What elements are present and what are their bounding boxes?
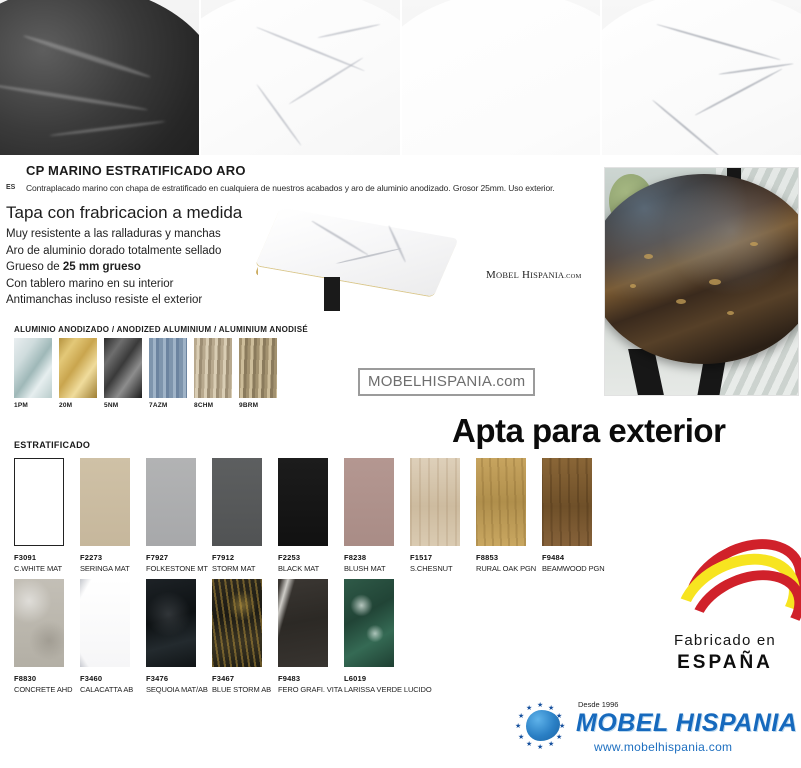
- feature-thickness: Grueso de 25 mm grueso: [6, 259, 266, 276]
- aluminium-swatch-color: [239, 338, 277, 398]
- photo-black-marble-gold-ring: [0, 0, 199, 155]
- aluminium-swatch-color: [14, 338, 52, 398]
- aluminium-swatch-item[interactable]: 7AZM: [149, 338, 187, 409]
- brand-watermark-text: MOBELHISPANIA.com: [368, 373, 525, 390]
- eu-star-icon: ★: [537, 745, 543, 751]
- laminate-swatch-code: F9484: [542, 553, 608, 562]
- feature-item: Antimanchas incluso resiste el exterior: [6, 292, 266, 309]
- wm-com: .COM: [564, 273, 581, 280]
- laminate-swatch-color: [476, 458, 526, 546]
- aluminium-swatch-code: 9BRM: [239, 402, 277, 409]
- laminate-swatch-color: [212, 458, 262, 546]
- thickness-label: Grueso de: [6, 261, 60, 273]
- render-watermark: MOBEL HISPANIA.COM: [486, 269, 581, 281]
- laminate-swatch-code: F8238: [344, 553, 410, 562]
- laminate-swatch-item[interactable]: F9484BEAMWOOD PGN: [542, 458, 608, 573]
- laminate-swatch-code: F2273: [80, 553, 146, 562]
- laminate-swatch-item[interactable]: L6019LARISSA VERDE LUCIDO: [344, 579, 410, 694]
- laminate-swatch-color: [278, 458, 328, 546]
- eu-star-icon: ★: [537, 703, 543, 709]
- aluminium-swatch-color: [149, 338, 187, 398]
- white-marble-surface: [602, 0, 801, 155]
- aluminium-swatch-code: 20M: [59, 402, 97, 409]
- laminate-swatch-item[interactable]: F8238BLUSH MAT: [344, 458, 410, 573]
- feature-item: Con tablero marino en su interior: [6, 276, 266, 293]
- laminate-swatch-color: [212, 579, 262, 667]
- white-surface: [402, 0, 601, 155]
- laminate-swatch-color: [80, 458, 130, 546]
- laminate-swatch-name: SERINGA MAT: [80, 564, 146, 573]
- laminate-swatch-code: F2253: [278, 553, 344, 562]
- laminate-swatch-code: F3467: [212, 674, 278, 683]
- photo-white-marble-gold-ring: [201, 0, 400, 155]
- brand-watermark: MOBELHISPANIA.com: [358, 368, 535, 396]
- eu-star-icon: ★: [556, 735, 562, 741]
- aluminium-swatch-item[interactable]: 5NM: [104, 338, 142, 409]
- aluminium-swatch-item[interactable]: 9BRM: [239, 338, 277, 409]
- spanish-flag-icon: [665, 540, 790, 632]
- laminate-section-heading: ESTRATIFICADO: [14, 440, 90, 450]
- square-table-top: [268, 221, 458, 299]
- laminate-swatch-item[interactable]: F7912STORM MAT: [212, 458, 278, 573]
- laminate-swatch-code: F1517: [410, 553, 476, 562]
- wm-ispania: ISPANIA: [530, 270, 564, 280]
- photo-dark-marble-round-table: [604, 167, 799, 396]
- map-shape: [526, 710, 560, 741]
- laminate-swatch-color: [146, 579, 196, 667]
- aluminium-swatch-row: 1PM 20M 5NM 7AZM 8CHM 9BRM: [14, 338, 277, 409]
- laminate-swatch-code: F3091: [14, 553, 80, 562]
- laminate-swatch-code: F8853: [476, 553, 542, 562]
- laminate-swatch-code: F3476: [146, 674, 212, 683]
- laminate-swatch-name: CALACATTA AB: [80, 685, 146, 694]
- laminate-swatch-color: [344, 458, 394, 546]
- laminate-swatch-code: F9483: [278, 674, 344, 683]
- eu-star-icon: ★: [559, 724, 565, 730]
- made-in-label: Fabricado en: [655, 632, 795, 649]
- laminate-swatch-color: [14, 579, 64, 667]
- laminate-swatch-grid: F3091C.WHITE MATF2273SERINGA MATF7927FOL…: [14, 458, 608, 694]
- aluminium-swatch-color: [194, 338, 232, 398]
- wm-m: M: [486, 269, 496, 281]
- dark-marble-surface: [604, 174, 799, 364]
- aluminium-swatch-color: [59, 338, 97, 398]
- laminate-swatch-name: BLACK MAT: [278, 564, 344, 573]
- table-column: [324, 277, 340, 311]
- laminate-swatch-name: SEQUOIA MAT/AB: [146, 685, 212, 694]
- laminate-swatch-name: S.CHESNUT: [410, 564, 476, 573]
- photo-white-silver-ring: [402, 0, 601, 155]
- aluminium-swatch-item[interactable]: 1PM: [14, 338, 52, 409]
- photo-white-marble-silver-ring: [602, 0, 801, 155]
- laminate-swatch-name: BEAMWOOD PGN: [542, 564, 608, 573]
- aluminium-swatch-color: [104, 338, 142, 398]
- laminate-swatch-color: [410, 458, 460, 546]
- feature-list: Muy resistente a las ralladuras y mancha…: [6, 226, 266, 309]
- company-logo[interactable]: ★★★★★★★★★★★★ Desde 1996 MOBEL HISPANIA w…: [516, 700, 796, 760]
- product-spec-sheet: CP MARINO ESTRATIFICADO ARO ES Contrapla…: [0, 0, 801, 768]
- wm-obel: OBEL: [496, 270, 519, 280]
- laminate-swatch-color: [80, 579, 130, 667]
- laminate-swatch-name: STORM MAT: [212, 564, 278, 573]
- wm-h: H: [522, 269, 530, 281]
- aluminium-section-heading: ALUMINIO ANODIZADO / ANODIZED ALUMINIUM …: [14, 325, 308, 334]
- laminate-swatch-color: [146, 458, 196, 546]
- marble-laminate-face: [255, 208, 458, 297]
- laminate-swatch-item[interactable]: F3460CALACATTA AB: [80, 579, 146, 694]
- laminate-swatch-code: L6019: [344, 674, 410, 683]
- laminate-swatch-item[interactable]: F3467BLUE STORM AB: [212, 579, 278, 694]
- laminate-swatch-name: BLUSH MAT: [344, 564, 410, 573]
- eu-star-icon: ★: [518, 735, 524, 741]
- photo-banner: [0, 0, 801, 155]
- laminate-swatch-name: FOLKESTONE MT: [146, 564, 212, 573]
- eu-star-icon: ★: [556, 714, 562, 720]
- laminate-swatch-name: FERO GRAFI. VITA: [278, 685, 344, 694]
- aluminium-swatch-code: 1PM: [14, 402, 52, 409]
- aluminium-swatch-item[interactable]: 20M: [59, 338, 97, 409]
- product-render: MOBEL HISPANIA.COM: [258, 207, 598, 312]
- country-label: ESPAÑA: [655, 652, 795, 674]
- laminate-swatch-item[interactable]: F2273SERINGA MAT: [80, 458, 146, 573]
- laminate-swatch-name: BLUE STORM AB: [212, 685, 278, 694]
- laminate-swatch-item[interactable]: F8853RURAL OAK PGN: [476, 458, 542, 573]
- feature-item: Muy resistente a las ralladuras y mancha…: [6, 226, 266, 243]
- laminate-swatch-name: RURAL OAK PGN: [476, 564, 542, 573]
- white-marble-surface: [201, 0, 400, 155]
- laminate-swatch-code: F7912: [212, 553, 278, 562]
- laminate-swatch-code: F8830: [14, 674, 80, 683]
- product-description: Contraplacado marino con chapa de estrat…: [26, 183, 555, 193]
- since-label: Desde 1996: [578, 700, 618, 709]
- laminate-swatch-color: [344, 579, 394, 667]
- eu-star-icon: ★: [518, 714, 524, 720]
- laminate-swatch-item[interactable]: F2253BLACK MAT: [278, 458, 344, 573]
- eu-star-icon: ★: [526, 742, 532, 748]
- thickness-value: 25 mm grueso: [63, 261, 141, 273]
- aluminium-swatch-item[interactable]: 8CHM: [194, 338, 232, 409]
- laminate-swatch-item[interactable]: F1517S.CHESNUT: [410, 458, 476, 573]
- laminate-swatch-item[interactable]: F3476SEQUOIA MAT/AB: [146, 579, 212, 694]
- laminate-swatch-color: [542, 458, 592, 546]
- laminate-swatch-item[interactable]: F9483FERO GRAFI. VITA: [278, 579, 344, 694]
- aluminium-swatch-code: 5NM: [104, 402, 142, 409]
- black-marble-surface: [0, 0, 199, 155]
- laminate-swatch-color: [14, 458, 64, 546]
- logo-wordmark: MOBEL HISPANIA: [576, 709, 797, 738]
- laminate-swatch-item[interactable]: F7927FOLKESTONE MT: [146, 458, 212, 573]
- laminate-swatch-code: F3460: [80, 674, 146, 683]
- spain-map-icon: ★★★★★★★★★★★★: [516, 702, 568, 750]
- product-headline: Tapa con frabricacion a medida: [6, 203, 242, 223]
- laminate-swatch-color: [278, 579, 328, 667]
- laminate-swatch-item[interactable]: F8830CONCRETE AHD: [14, 579, 80, 694]
- eu-star-icon: ★: [515, 724, 521, 730]
- laminate-swatch-item[interactable]: F3091C.WHITE MAT: [14, 458, 80, 573]
- product-title: CP MARINO ESTRATIFICADO ARO: [26, 163, 246, 178]
- laminate-swatch-code: F7927: [146, 553, 212, 562]
- eu-star-icon: ★: [548, 706, 554, 712]
- laminate-swatch-name: C.WHITE MAT: [14, 564, 80, 573]
- aluminium-swatch-code: 8CHM: [194, 402, 232, 409]
- feature-item: Aro de aluminio dorado totalmente sellad…: [6, 243, 266, 260]
- laminate-swatch-name: CONCRETE AHD: [14, 685, 80, 694]
- eu-star-icon: ★: [548, 742, 554, 748]
- logo-url[interactable]: www.mobelhispania.com: [594, 740, 732, 754]
- laminate-swatch-name: LARISSA VERDE LUCIDO: [344, 685, 410, 694]
- eu-star-icon: ★: [526, 706, 532, 712]
- aluminium-swatch-code: 7AZM: [149, 402, 187, 409]
- outdoor-claim: Apta para exterior: [452, 412, 725, 450]
- made-in-spain-badge: Fabricado en ESPAÑA: [655, 540, 795, 680]
- language-tag: ES: [6, 184, 15, 191]
